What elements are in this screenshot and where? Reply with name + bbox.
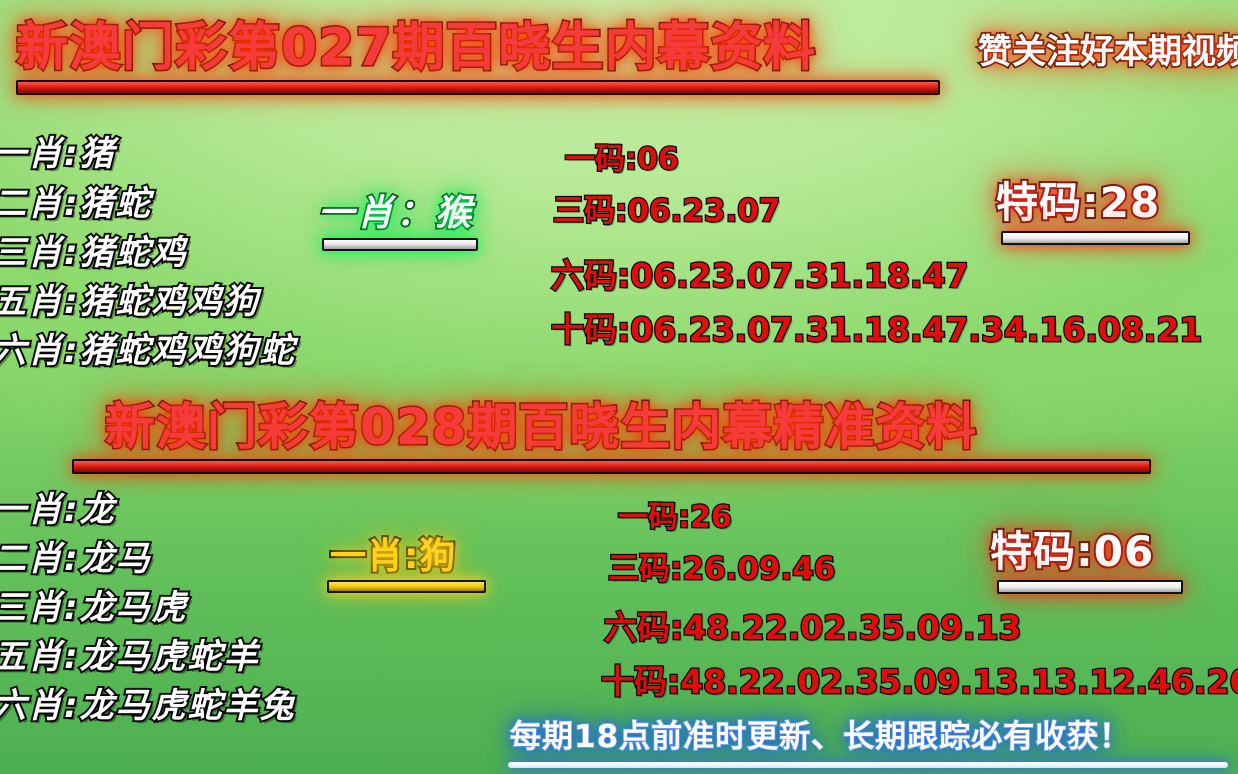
section2-title: 新澳门彩第028期百晓生内幕精准资料 (105, 398, 977, 456)
section2-pick-badge: 一肖:狗 (330, 535, 456, 579)
section2-code-value-3: 48.22.02.35.09.13 (683, 608, 1021, 647)
section1-code-value-3: 06.23.07.31.18.47 (630, 256, 968, 295)
section1-code-value-4: 06.23.07.31.18.47.34.16.08.21 (630, 310, 1202, 349)
section1-zodiac-row-1: 一肖:猪 (0, 134, 116, 174)
section2-title-underline (72, 459, 1151, 474)
section1-zodiac-row-5: 六肖:猪蛇鸡鸡狗蛇 (0, 331, 296, 371)
section1-code-value-2: 06.23.07 (627, 193, 780, 229)
section1-special-underline (1001, 231, 1190, 245)
section2-zodiac-row-1: 一肖:龙 (0, 490, 116, 530)
section2-code-row-3: 六码:48.22.02.35.09.13 (604, 608, 1021, 647)
top-right-note: 赞关注好本期视频 (978, 32, 1238, 72)
section1-code-row-3: 六码:06.23.07.31.18.47 (551, 256, 968, 295)
section2-special-code: 特码:06 (990, 527, 1154, 577)
poster-canvas: 新澳门彩第027期百晓生内幕资料 赞关注好本期视频 一肖:猪 二肖:猪蛇 三肖:… (0, 0, 1238, 774)
section1-code-label-3: 六码: (551, 256, 630, 295)
section1-title-underline (16, 80, 940, 95)
section1-code-label-4: 十码: (551, 310, 630, 349)
section2-code-value-4: 48.22.02.35.09.13.13.12.46.26.03 (680, 662, 1238, 701)
section1-title: 新澳门彩第027期百晓生内幕资料 (16, 18, 817, 78)
section2-code-label-1: 一码: (618, 500, 690, 535)
section2-special-underline (997, 580, 1183, 594)
section1-zodiac-row-2: 二肖:猪蛇 (0, 184, 152, 224)
section2-zodiac-row-2: 二肖:龙马 (0, 539, 152, 579)
section2-zodiac-row-3: 三肖:龙马虎 (0, 588, 188, 628)
section1-code-value-1: 06 (637, 142, 679, 177)
section1-code-label-2: 三码: (553, 193, 627, 229)
section1-special-code: 特码:28 (996, 178, 1160, 228)
section1-zodiac-row-3: 三肖:猪蛇鸡 (0, 233, 188, 273)
section1-zodiac-row-4: 五肖:猪蛇鸡鸡狗 (0, 282, 260, 322)
footer-note: 每期18点前准时更新、长期跟踪必有收获！ (510, 718, 1131, 756)
section1-pick-badge: 一肖：猴 (318, 192, 474, 236)
section2-code-label-4: 十码: (601, 662, 680, 701)
section1-code-row-4: 十码:06.23.07.31.18.47.34.16.08.21 (551, 310, 1202, 349)
section2-pick-badge-underline (327, 580, 486, 593)
section2-code-row-1: 一码:26 (618, 500, 732, 536)
section1-code-label-1: 一码: (565, 142, 637, 177)
section1-code-row-2: 三码:06.23.07 (553, 193, 780, 230)
section2-code-value-1: 26 (690, 500, 732, 535)
section2-code-label-2: 三码: (608, 551, 682, 587)
section2-code-value-2: 26.09.46 (682, 551, 835, 587)
section2-code-label-3: 六码: (604, 608, 683, 647)
section2-code-row-2: 三码:26.09.46 (608, 551, 835, 588)
footer-underline (508, 762, 1228, 768)
section1-pick-badge-underline (322, 238, 478, 251)
section1-code-row-1: 一码:06 (565, 142, 679, 178)
section2-zodiac-row-4: 五肖:龙马虎蛇羊 (0, 637, 260, 677)
section2-zodiac-row-5: 六肖:龙马虎蛇羊兔 (0, 686, 296, 726)
section2-code-row-4: 十码:48.22.02.35.09.13.13.12.46.26.03 (601, 662, 1238, 701)
